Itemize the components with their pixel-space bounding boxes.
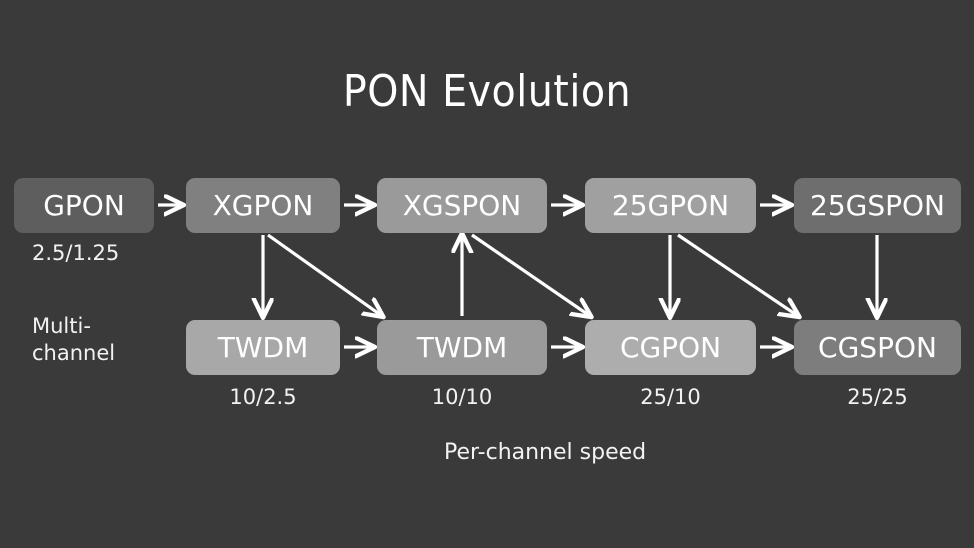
axis-label-multi-line2: channel bbox=[32, 340, 115, 367]
axis-label-multi-channel: Multi-channel bbox=[32, 313, 115, 367]
arrow-xgspon-to-cgpon bbox=[472, 235, 590, 316]
axis-label-multi-line1: Multi- bbox=[32, 313, 115, 340]
node-twdm-2[interactable]: TWDM bbox=[377, 320, 547, 375]
caption-per-channel-speed: Per-channel speed bbox=[444, 442, 646, 464]
page-title: PON Evolution bbox=[0, 70, 974, 114]
node-cgpon[interactable]: CGPON bbox=[585, 320, 756, 375]
node-xgpon[interactable]: XGPON bbox=[186, 178, 340, 233]
label-speed-twdm-1: 10/2.5 bbox=[186, 387, 340, 408]
node-25gspon[interactable]: 25GSPON bbox=[794, 178, 961, 233]
label-speed-cgpon: 25/10 bbox=[585, 387, 756, 408]
node-xgspon[interactable]: XGSPON bbox=[377, 178, 547, 233]
arrow-25gpon-to-cgspon bbox=[678, 235, 798, 316]
node-25gpon[interactable]: 25GPON bbox=[585, 178, 756, 233]
diagram-canvas: PON Evolution GPONXGPONXGSPON25GPON25GSP… bbox=[0, 0, 974, 548]
node-twdm-1[interactable]: TWDM bbox=[186, 320, 340, 375]
label-speed-twdm-2: 10/10 bbox=[377, 387, 547, 408]
node-cgspon[interactable]: CGSPON bbox=[794, 320, 961, 375]
label-speed-cgspon: 25/25 bbox=[794, 387, 961, 408]
arrow-xgpon-to-twdm2 bbox=[268, 235, 382, 316]
label-speed-gpon: 2.5/1.25 bbox=[32, 243, 119, 264]
node-gpon[interactable]: GPON bbox=[14, 178, 154, 233]
